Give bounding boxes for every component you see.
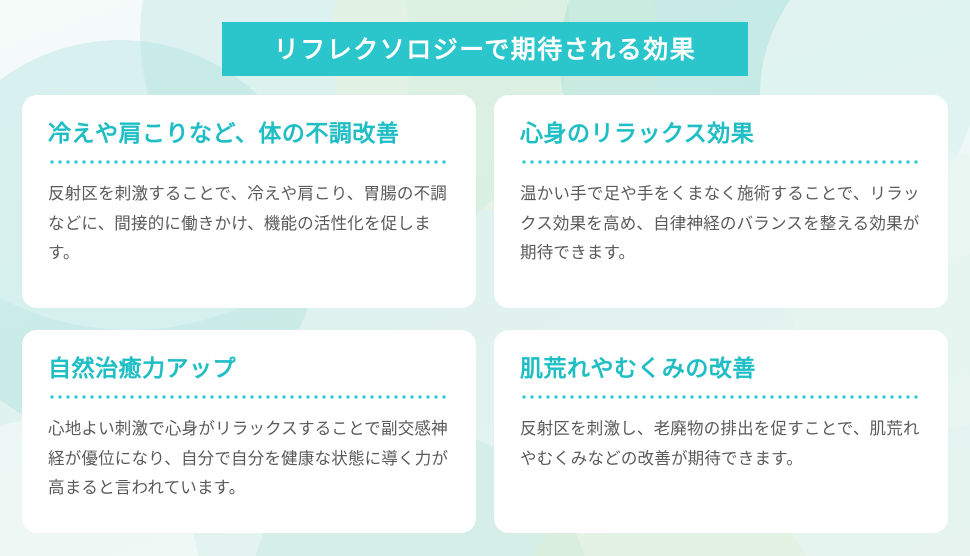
page-title-banner: リフレクソロジーで期待される効果: [222, 22, 748, 76]
benefit-card: 自然治癒力アップ 心地よい刺激で心身がリラックスすることで副交感神経が優位になり…: [22, 330, 476, 533]
benefit-card-body: 温かい手で足や手をくまなく施術することで、リラックス効果を高め、自律神経のバラン…: [520, 179, 922, 267]
benefit-card-heading: 自然治癒力アップ: [48, 356, 450, 382]
benefit-card-heading: 肌荒れやむくみの改善: [520, 356, 922, 382]
benefit-card-heading: 心身のリラックス効果: [520, 121, 922, 147]
dotted-divider: [48, 395, 450, 399]
benefit-card: 肌荒れやむくみの改善 反射区を刺激し、老廃物の排出を促すことで、肌荒れやむくみな…: [494, 330, 948, 533]
benefit-card-body: 反射区を刺激し、老廃物の排出を促すことで、肌荒れやむくみなどの改善が期待できます…: [520, 414, 922, 473]
benefit-card-body: 反射区を刺激することで、冷えや肩こり、胃腸の不調などに、間接的に働きかけ、機能の…: [48, 179, 450, 267]
benefit-card-heading: 冷えや肩こりなど、体の不調改善: [48, 121, 450, 147]
page-title: リフレクソロジーで期待される効果: [274, 37, 697, 62]
dotted-divider: [520, 395, 922, 399]
benefits-card-grid: 冷えや肩こりなど、体の不調改善 反射区を刺激することで、冷えや肩こり、胃腸の不調…: [22, 95, 948, 533]
dotted-divider: [48, 160, 450, 164]
dotted-divider: [520, 160, 922, 164]
benefit-card: 冷えや肩こりなど、体の不調改善 反射区を刺激することで、冷えや肩こり、胃腸の不調…: [22, 95, 476, 308]
benefit-card: 心身のリラックス効果 温かい手で足や手をくまなく施術することで、リラックス効果を…: [494, 95, 948, 308]
benefit-card-body: 心地よい刺激で心身がリラックスすることで副交感神経が優位になり、自分で自分を健康…: [48, 414, 450, 502]
